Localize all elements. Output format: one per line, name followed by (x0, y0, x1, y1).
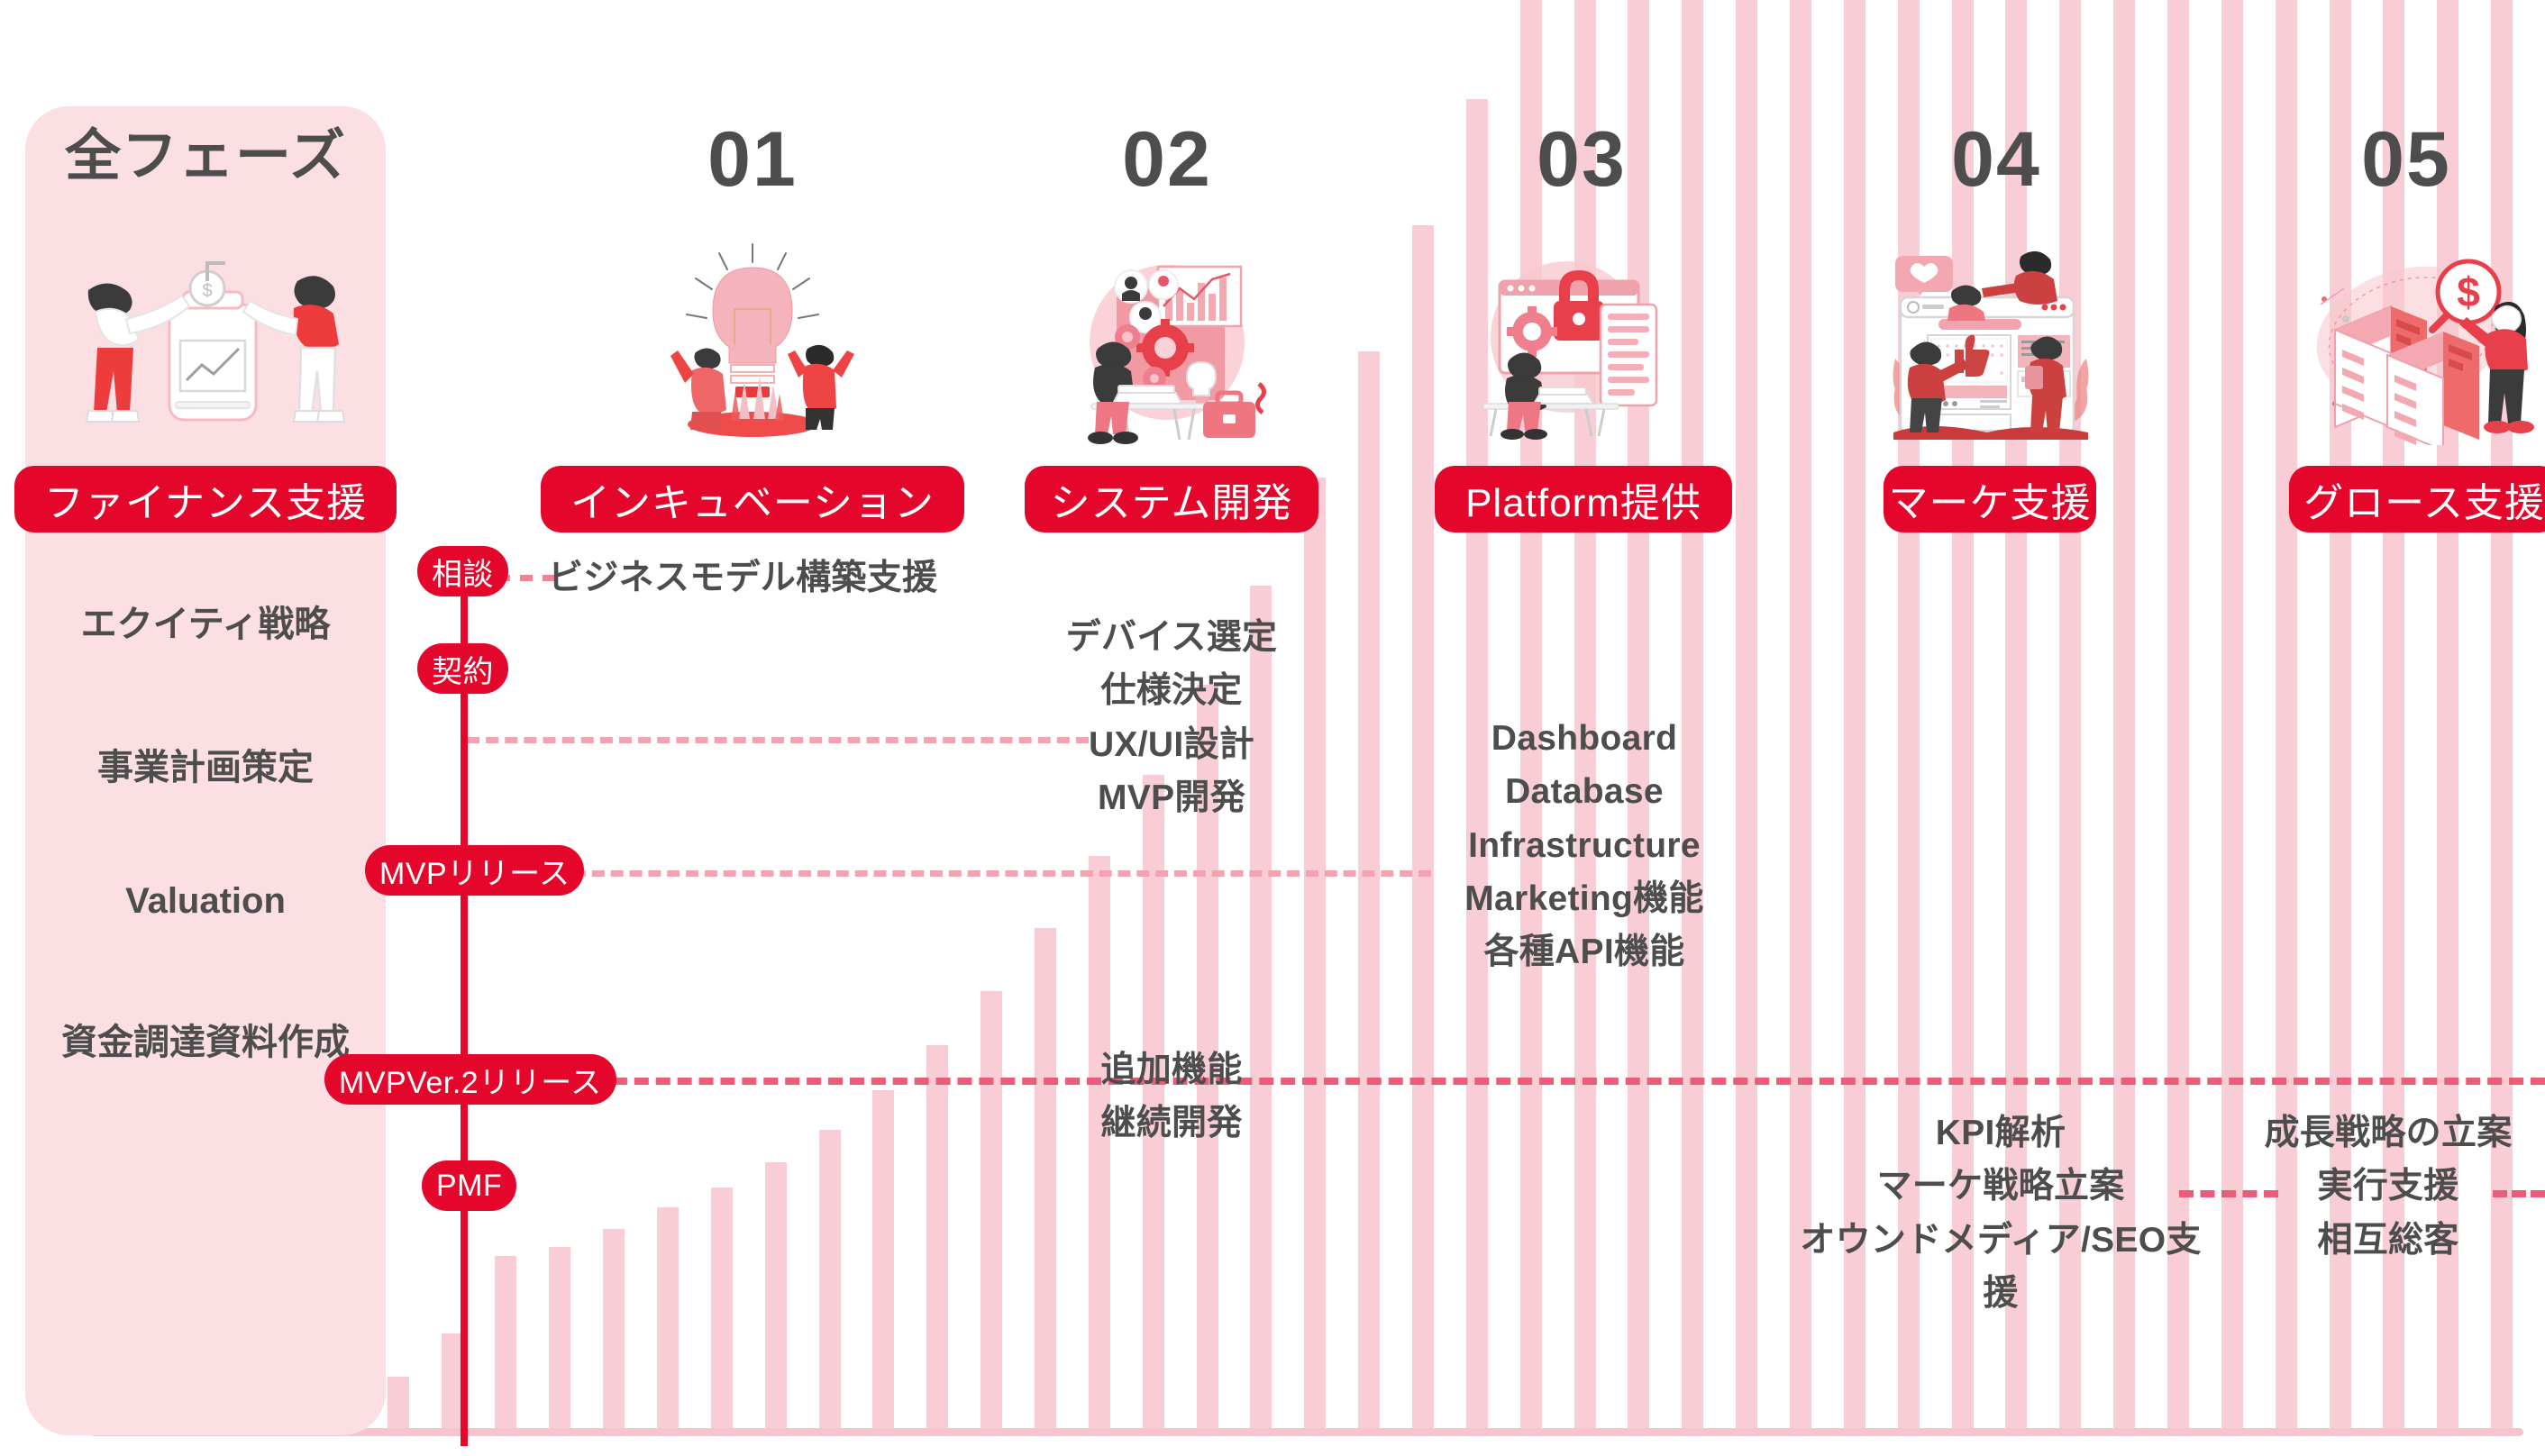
phase-05-item: 実行支援 (2226, 1160, 2545, 1213)
all-phase-item: 事業計画策定 (25, 738, 386, 790)
phase-05-item-list: 成長戦略の立案 実行支援 相互総客 (2226, 1106, 2545, 1267)
phase-number-03: 03 (1446, 115, 1717, 205)
chart-bar (1358, 351, 1380, 1433)
chart-baseline (90, 1428, 2523, 1436)
phase-number-04: 04 (1861, 115, 2131, 205)
growth-servers-money-illustration: $ (2303, 236, 2535, 445)
phase-01-item: ビジネスモデル構築支援 (548, 551, 1017, 605)
phase-05-item: 相互総客 (2226, 1214, 2545, 1267)
lightbulb-idea-illustration (640, 239, 865, 446)
phase-02-item: MVP開発 (1000, 771, 1343, 824)
phase-05-item: 成長戦略の立案 (2226, 1106, 2545, 1160)
developer-gears-illustration (1068, 243, 1272, 447)
phase-04-item-list: KPI解析 マーケ戦略立案 オウンドメディア/SEO支援 (1784, 1106, 2217, 1320)
finance-handshake-illustration: $ (36, 225, 379, 450)
chart-bar (711, 1188, 733, 1433)
chart-bar (872, 1090, 894, 1433)
phase-02-item: 仕様決定 (1000, 664, 1343, 717)
connector-mvp-v2 (591, 1078, 2545, 1085)
phase-01-item-list: ビジネスモデル構築支援 (548, 551, 1017, 605)
chart-bar (1035, 928, 1056, 1433)
all-phase-pill[interactable]: ファイナンス支援 (14, 466, 397, 532)
chart-bar (388, 1377, 409, 1433)
milestone-pmf[interactable]: PMF (422, 1160, 516, 1211)
phase-pill-05[interactable]: グロース支援 (2289, 466, 2545, 532)
platform-security-illustration (1460, 243, 1673, 447)
milestone-mvp-v2-release[interactable]: MVPVer.2リリース (324, 1054, 616, 1105)
chart-bar (603, 1229, 625, 1433)
milestone-keiyaku[interactable]: 契約 (417, 643, 508, 694)
svg-text:$: $ (202, 281, 212, 301)
connector-keiyaku (467, 737, 1089, 743)
phase-number-05: 05 (2271, 115, 2541, 205)
phase-02-item: 追加機能 (1000, 1043, 1343, 1097)
phase-pill-04[interactable]: マーケ支援 (1884, 466, 2096, 532)
phase-02-item-list-bottom: 追加機能 継続開発 (1000, 1043, 1343, 1151)
chart-bar (765, 1162, 787, 1433)
milestone-mvp-release[interactable]: MVPリリース (365, 845, 584, 896)
connector-mvp-release (573, 870, 1431, 877)
all-phase-item: エクイティ戦略 (25, 595, 386, 647)
phase-03-item-list: Dashboard Database Infrastructure Market… (1395, 712, 1774, 978)
phase-03-item: Dashboard (1395, 712, 1774, 765)
chart-bar (981, 991, 1002, 1433)
phase-03-item: Infrastructure (1395, 819, 1774, 872)
chart-bar (819, 1130, 841, 1433)
phase-pill-01[interactable]: インキュベーション (541, 466, 964, 532)
phase-04-item: KPI解析 (1784, 1106, 2217, 1160)
svg-text:$: $ (2457, 268, 2480, 315)
phase-pill-03[interactable]: Platform提供 (1435, 466, 1732, 532)
phase-02-item: UX/UI設計 (1000, 718, 1343, 771)
all-phase-title: 全フェーズ (16, 110, 395, 191)
chart-bar (657, 1207, 679, 1433)
all-phase-item: 資金調達資料作成 (25, 1013, 386, 1065)
phase-pill-02[interactable]: システム開発 (1025, 466, 1318, 532)
phase-03-item: Database (1395, 765, 1774, 818)
phase-04-item: オウンドメディア/SEO支援 (1784, 1214, 2217, 1321)
milestone-soudan[interactable]: 相談 (417, 546, 508, 596)
phase-number-01: 01 (617, 115, 888, 205)
chart-bar (549, 1247, 570, 1433)
phase-03-item: 各種API機能 (1395, 925, 1774, 978)
phase-04-item: マーケ戦略立案 (1784, 1160, 2217, 1213)
phase-number-02: 02 (1032, 115, 1302, 205)
chart-bar (926, 1045, 948, 1433)
phase-03-item: Marketing機能 (1395, 872, 1774, 925)
phase-02-item: 継続開発 (1000, 1097, 1343, 1150)
phase-02-item-list-top: デバイス選定 仕様決定 UX/UI設計 MVP開発 (1000, 611, 1343, 824)
phase-02-item: デバイス選定 (1000, 611, 1343, 664)
social-marketing-illustration (1879, 232, 2103, 449)
all-phase-item: Valuation (25, 881, 386, 922)
chart-bar (495, 1256, 516, 1433)
infographic-canvas: 全フェーズ $ (0, 0, 2545, 1456)
